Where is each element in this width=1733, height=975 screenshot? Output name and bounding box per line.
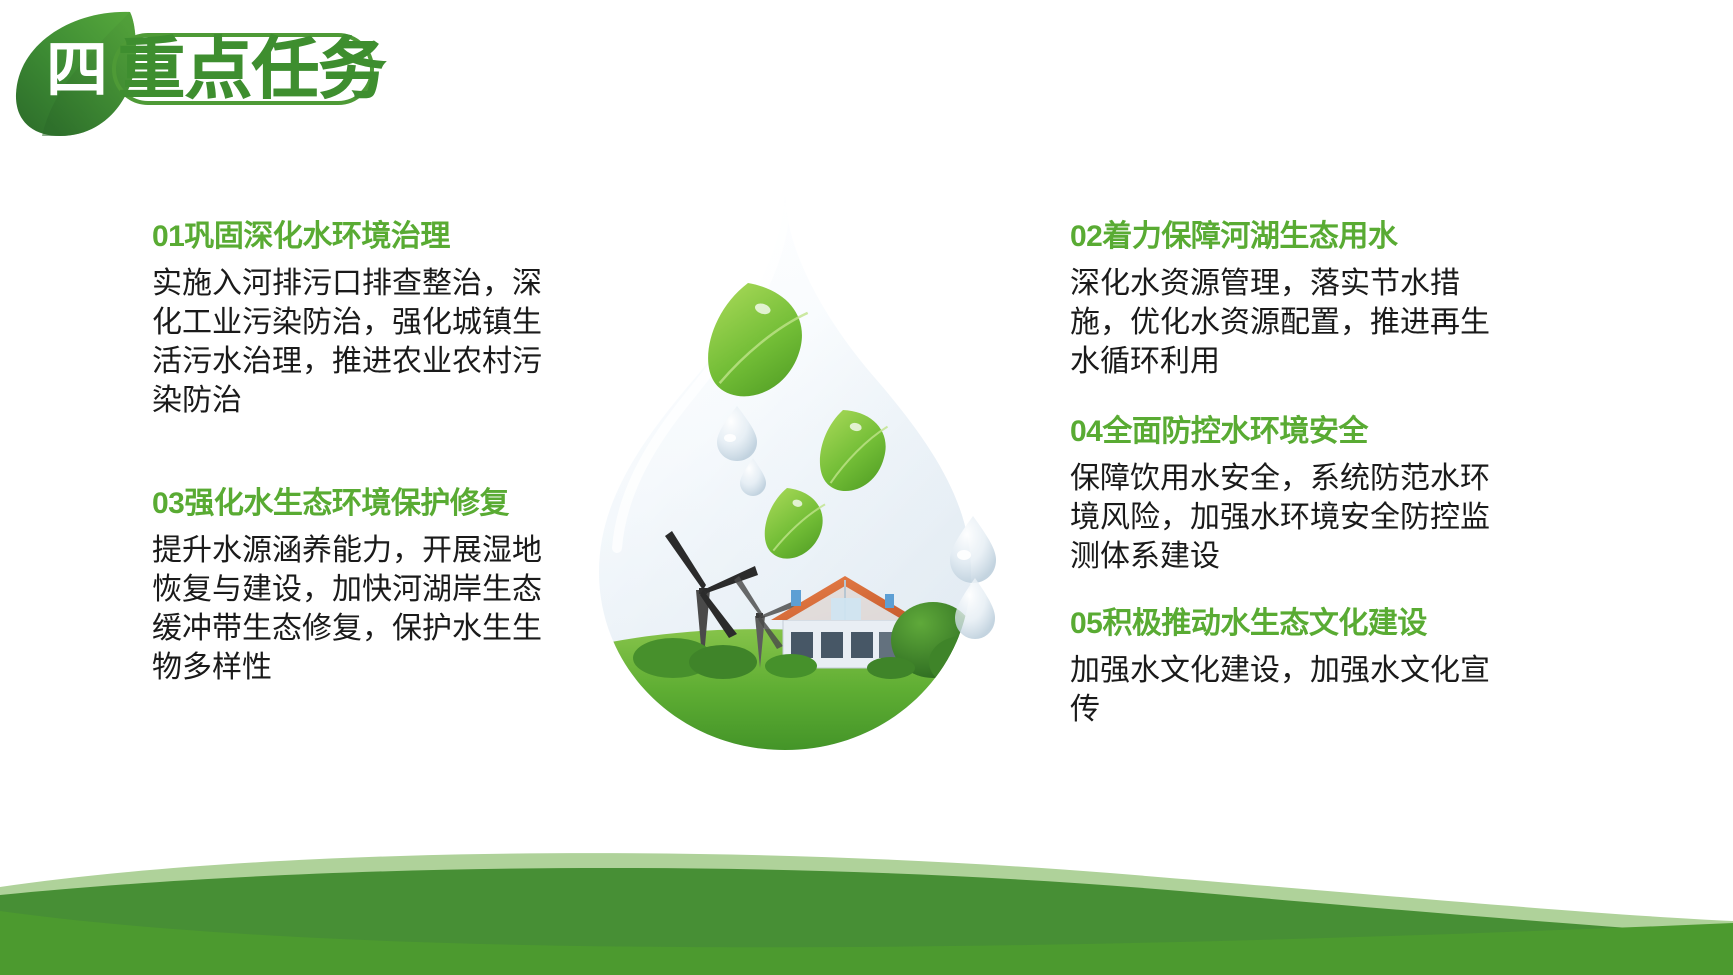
task-item-01: 01巩固深化水环境治理 实施入河排污口排查整治，深化工业污染防治，强化城镇生活污… [152,218,552,420]
title-leaf-character: 四 [44,38,110,104]
task-body-03: 提升水源涵养能力，开展湿地恢复与建设，加快河湖岸生态缓冲带生态修复，保护水生生物… [152,531,562,687]
task-heading-05: 05积极推动水生态文化建设 [1070,605,1500,643]
task-body-05: 加强水文化建设，加强水文化宣传 [1070,651,1500,729]
page-title: 重点任务 [118,32,386,108]
task-heading-03: 03强化水生态环境保护修复 [152,485,562,523]
task-item-05: 05积极推动水生态文化建设 加强水文化建设，加强水文化宣传 [1070,605,1500,729]
bottom-wave-decoration [0,745,1733,975]
water-drop-illustration [555,188,1015,758]
task-item-02: 02着力保障河湖生态用水 深化水资源管理，落实节水措施，优化水资源配置，推进再生… [1070,218,1490,381]
task-heading-02: 02着力保障河湖生态用水 [1070,218,1490,256]
task-body-04: 保障饮用水安全，系统防范水环境风险，加强水环境安全防控监测体系建设 [1070,459,1490,576]
task-item-03: 03强化水生态环境保护修复 提升水源涵养能力，开展湿地恢复与建设，加快河湖岸生态… [152,485,562,687]
task-heading-04: 04全面防控水环境安全 [1070,413,1490,451]
task-item-04: 04全面防控水环境安全 保障饮用水安全，系统防范水环境风险，加强水环境安全防控监… [1070,413,1490,576]
task-body-01: 实施入河排污口排查整治，深化工业污染防治，强化城镇生活污水治理，推进农业农村污染… [152,264,552,420]
task-heading-01: 01巩固深化水环境治理 [152,218,552,256]
page-title-badge: 四 重点任务 [0,0,430,140]
task-body-02: 深化水资源管理，落实节水措施，优化水资源配置，推进再生水循环利用 [1070,264,1490,381]
